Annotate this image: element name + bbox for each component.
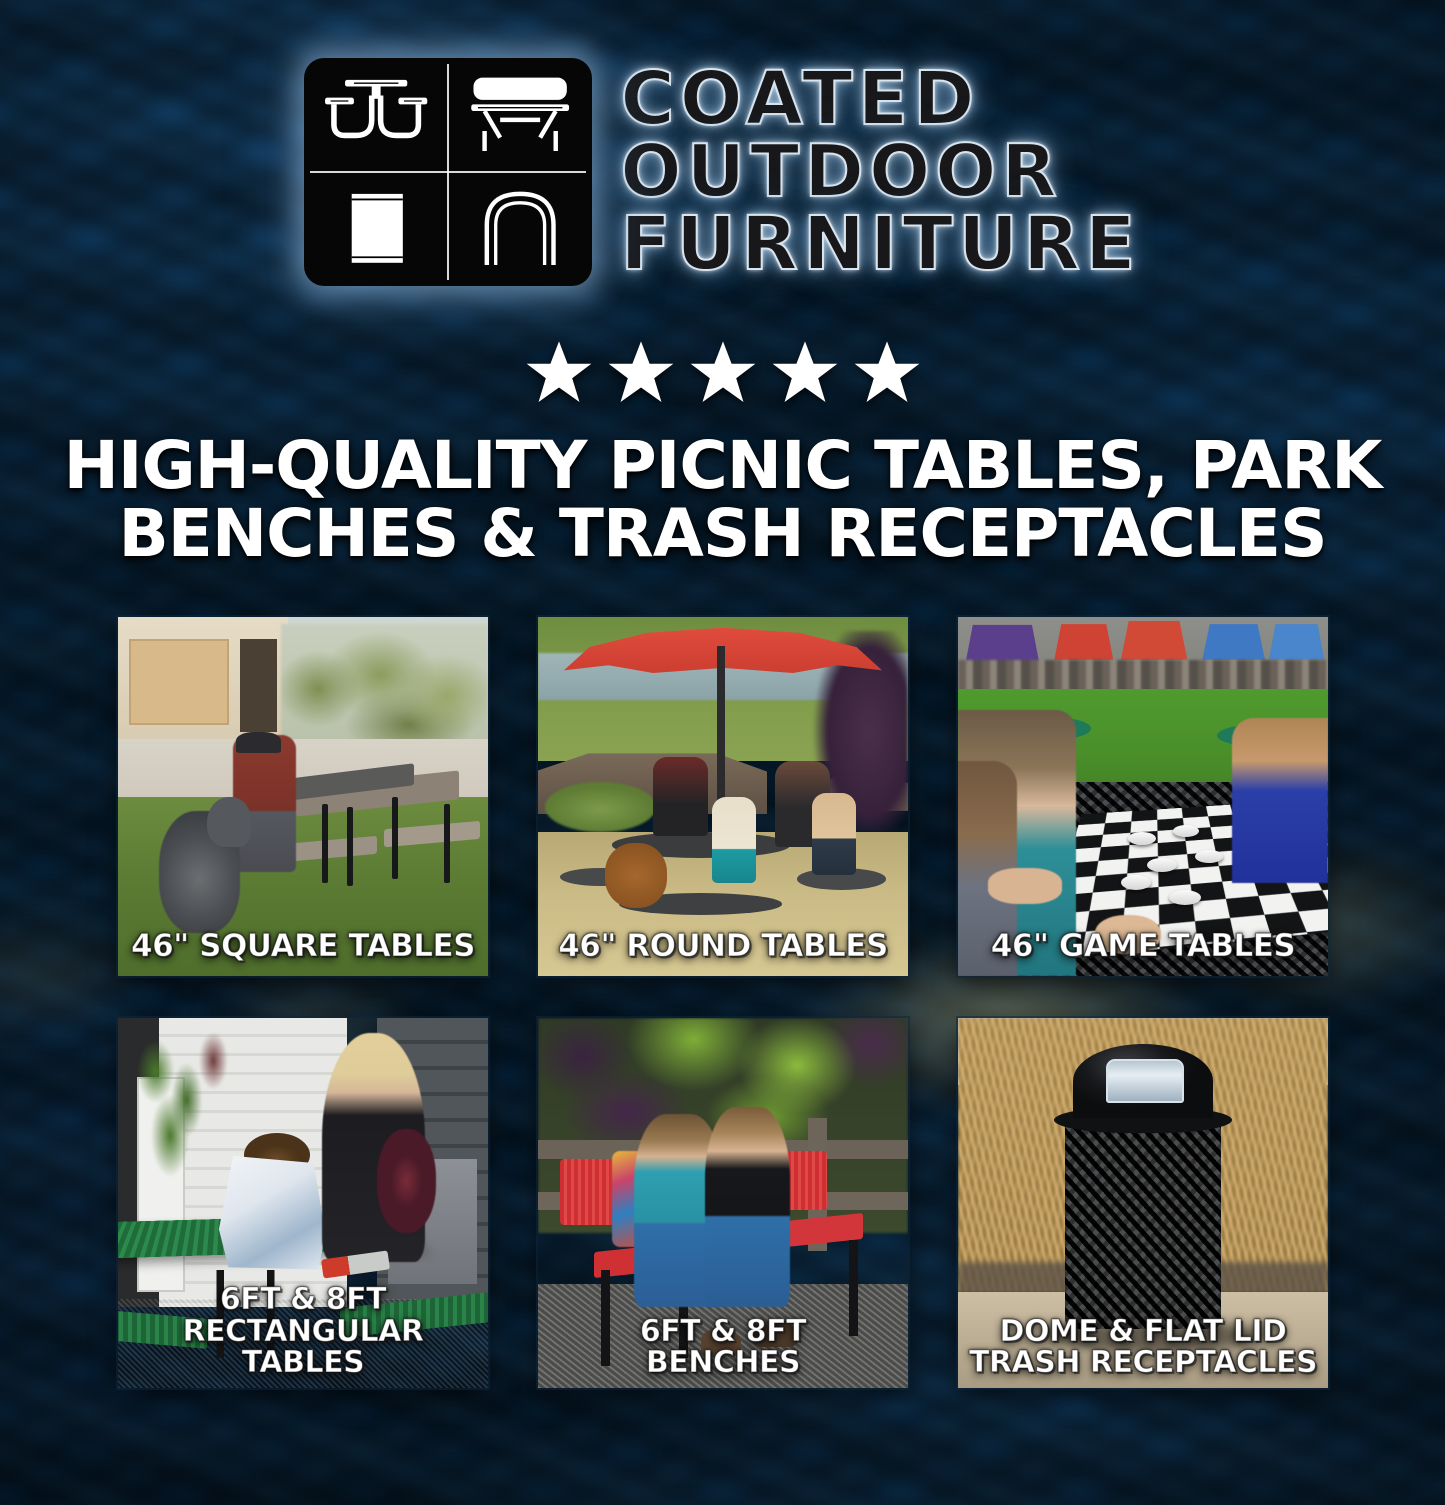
logo-mark-quad-icons <box>304 58 592 286</box>
star-icon <box>608 340 674 406</box>
product-caption: 46" ROUND TABLES <box>544 930 902 962</box>
star-icon <box>772 340 838 406</box>
brand-line-3: FURNITURE <box>620 209 1140 280</box>
product-tile-benches[interactable]: 6FT & 8FT BENCHES <box>538 1018 908 1388</box>
picnic-table-rectangular-icon <box>448 58 592 172</box>
product-caption: 6FT & 8FT RECTANGULAR TABLES <box>124 1284 482 1378</box>
dome-lid-icon <box>448 172 592 286</box>
brand-line-1: COATED <box>620 64 1140 135</box>
product-tile-game-tables[interactable]: 46" GAME TABLES <box>958 617 1328 976</box>
product-tile-round-tables[interactable]: 46" ROUND TABLES <box>538 617 908 976</box>
product-photo-game-tables <box>958 617 1328 976</box>
star-icon <box>854 340 920 406</box>
product-caption: 6FT & 8FT BENCHES <box>544 1316 902 1378</box>
product-caption: DOME & FLAT LID TRASH RECEPTACLES <box>964 1316 1322 1378</box>
star-icon <box>690 340 756 406</box>
brand-logo: COATED OUTDOOR FURNITURE <box>0 58 1445 286</box>
trash-receptacle-icon <box>304 172 448 286</box>
brand-wordmark: COATED OUTDOOR FURNITURE <box>620 64 1140 279</box>
page-title: HIGH-QUALITY PICNIC TABLES, PARK BENCHES… <box>60 432 1385 568</box>
rating-stars <box>0 340 1445 406</box>
product-grid: 46" SQUARE TABLES 46" ROUND TABLES <box>118 617 1327 1388</box>
product-tile-trash-receptacles[interactable]: DOME & FLAT LID TRASH RECEPTACLES <box>958 1018 1328 1388</box>
product-photo-round-tables <box>538 617 908 976</box>
product-caption: 46" SQUARE TABLES <box>124 930 482 962</box>
headline-line-2: BENCHES & TRASH RECEPTACLES <box>60 500 1385 568</box>
product-tile-square-tables[interactable]: 46" SQUARE TABLES <box>118 617 488 976</box>
product-tile-rectangular-tables[interactable]: 6FT & 8FT RECTANGULAR TABLES <box>118 1018 488 1388</box>
brand-line-2: OUTDOOR <box>620 137 1140 206</box>
picnic-table-round-icon <box>304 58 448 172</box>
product-photo-square-tables <box>118 617 488 976</box>
promo-poster: COATED OUTDOOR FURNITURE HIGH-QUALITY PI… <box>0 0 1445 1445</box>
headline-line-1: HIGH-QUALITY PICNIC TABLES, PARK <box>64 427 1382 504</box>
product-caption: 46" GAME TABLES <box>964 930 1322 962</box>
star-icon <box>526 340 592 406</box>
